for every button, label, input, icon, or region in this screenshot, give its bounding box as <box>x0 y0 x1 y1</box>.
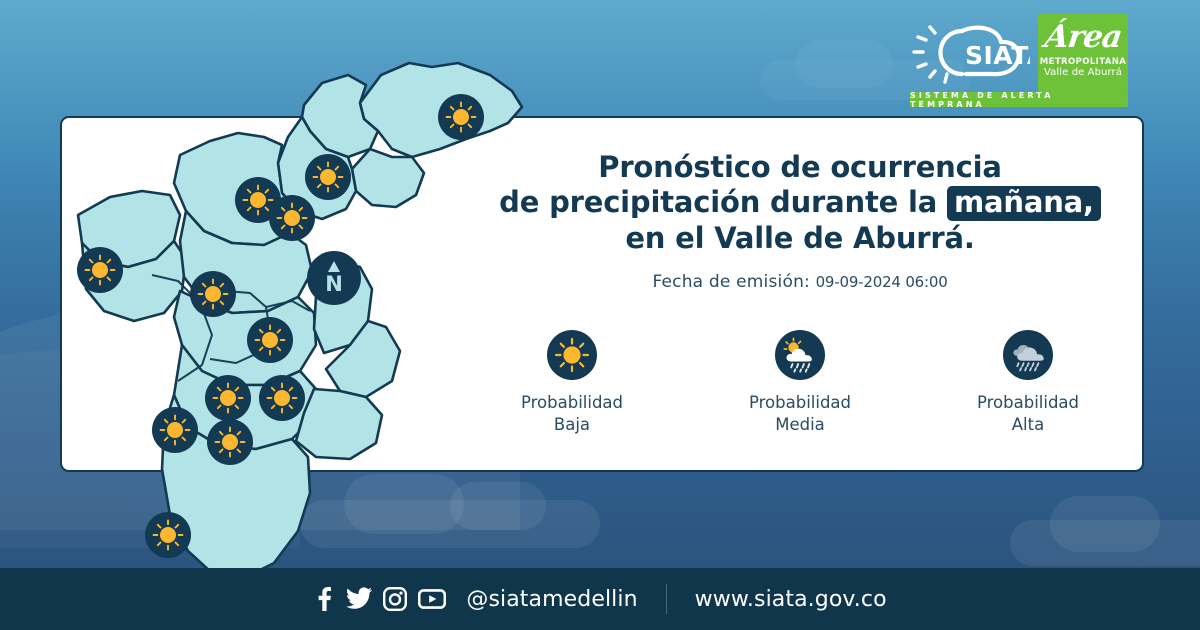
cloud-rain-icon <box>1003 330 1053 380</box>
legend-label-alta-line1: Probabilidad <box>977 392 1079 414</box>
issue-date-value: 09-09-2024 06:00 <box>816 273 948 291</box>
logo-group: SIATA Área METROPOLITANA Valle de Aburrá <box>902 14 1128 92</box>
tagline-text: SISTEMA DE ALERTA TEMPRANA <box>910 91 1128 109</box>
legend-item-alta: Probabilidad Alta <box>953 330 1103 436</box>
facebook-icon[interactable] <box>313 587 335 611</box>
map-marker-la-estrella <box>207 419 253 465</box>
map-marker-girardota <box>305 154 351 200</box>
map-marker-caldas <box>145 512 191 558</box>
area-line2: Valle de Aburrá <box>1044 67 1122 79</box>
tagline-strip: SISTEMA DE ALERTA TEMPRANA <box>910 92 1128 107</box>
title-line-2: de precipitación durante la mañana, <box>470 185 1130 221</box>
map-marker-medellin-nw <box>77 247 123 293</box>
compass-label: N <box>325 272 343 296</box>
legend-label-baja-line2: Baja <box>521 414 623 436</box>
youtube-icon[interactable] <box>418 588 446 610</box>
siata-logo: SIATA <box>902 14 1030 92</box>
legend-item-baja: Probabilidad Baja <box>497 330 647 436</box>
map-marker-medellin <box>247 317 293 363</box>
issue-date-label: Fecha de emisión: <box>652 272 810 292</box>
map-marker-sabaneta <box>152 407 198 453</box>
legend-label-baja-line1: Probabilidad <box>521 392 623 414</box>
issue-date: Fecha de emisión: 09-09-2024 06:00 <box>470 272 1130 292</box>
background-cloud-right <box>1010 520 1200 566</box>
title-highlight-periodo: mañana, <box>947 186 1101 221</box>
siata-wordmark: SIATA <box>965 41 1030 70</box>
map-marker-san-pedro <box>235 177 281 223</box>
social-icon-group <box>313 587 446 611</box>
title-line-3: en el Valle de Aburrá. <box>470 221 1130 256</box>
legend-label-baja: Probabilidad Baja <box>521 392 623 436</box>
legend-label-media-line2: Media <box>749 414 851 436</box>
sun-cloud-rain-icon <box>775 330 825 380</box>
municipality-girardota <box>352 149 424 207</box>
legend-label-alta-line2: Alta <box>977 414 1079 436</box>
sun-icon <box>547 330 597 380</box>
area-script-text: Área <box>1042 17 1124 57</box>
map-marker-bello <box>190 271 236 317</box>
legend-label-media-line1: Probabilidad <box>749 392 851 414</box>
social-handle[interactable]: @siatamedellin <box>466 587 637 612</box>
title-line-1: Pronóstico de ocurrencia <box>470 150 1130 185</box>
footer-bar: @siatamedellin www.siata.gov.co <box>0 568 1200 630</box>
page-title: Pronóstico de ocurrencia de precipitació… <box>470 150 1130 256</box>
map-marker-itagui <box>205 375 251 421</box>
footer-divider <box>666 584 667 614</box>
headline-block: Pronóstico de ocurrencia de precipitació… <box>470 150 1130 292</box>
website-url[interactable]: www.siata.gov.co <box>695 587 887 612</box>
title-line-2-text: de precipitación durante la <box>499 185 937 219</box>
map-marker-barbosa <box>438 94 484 140</box>
municipality-la-estrella <box>296 389 382 459</box>
map-marker-envigado <box>259 375 305 421</box>
legend-label-media: Probabilidad Media <box>749 392 851 436</box>
area-line1: METROPOLITANA <box>1040 57 1126 67</box>
legend-item-media: Probabilidad Media <box>725 330 875 436</box>
compass-north-icon: N <box>306 250 362 306</box>
legend: Probabilidad Baja <box>470 330 1130 436</box>
area-metropolitana-logo: Área METROPOLITANA Valle de Aburrá <box>1038 14 1128 92</box>
instagram-icon[interactable] <box>383 587 407 611</box>
twitter-icon[interactable] <box>346 587 372 611</box>
infographic-root: SIATA Área METROPOLITANA Valle de Aburrá… <box>0 0 1200 630</box>
valle-de-aburra-map: N <box>60 45 530 575</box>
legend-label-alta: Probabilidad Alta <box>977 392 1079 436</box>
